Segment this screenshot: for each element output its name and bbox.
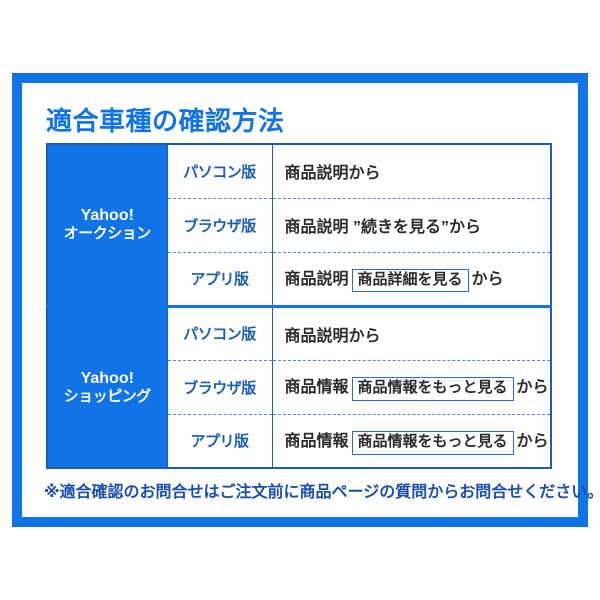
brand-label-line1: Yahoo! xyxy=(48,206,167,225)
platform-label-pc: パソコン版 xyxy=(167,306,272,360)
table-body: Yahoo! オークション パソコン版 商品説明から ブラウザ版 商品説明 xyxy=(47,144,551,468)
brand-cell-shopping: Yahoo! ショッピング xyxy=(47,306,167,468)
table-row: Yahoo! オークション パソコン版 商品説明から xyxy=(47,144,551,198)
platform-label-pc: パソコン版 xyxy=(167,144,272,198)
desc-prefix: 商品説明 ”続きを見る”から xyxy=(285,219,481,236)
table-row: Yahoo! ショッピング パソコン版 商品説明から xyxy=(47,306,551,360)
screenshot-canvas: 適合車種の確認方法 Yahoo! オークション パソコン版 商品説明から xyxy=(0,0,600,600)
brand-label-line2: ショッピング xyxy=(48,388,167,406)
ui-button-reference: 商品詳細を見る xyxy=(352,269,469,293)
desc-prefix: 商品説明 xyxy=(285,271,349,288)
description-cell: 商品説明から xyxy=(272,306,551,360)
brand-label-line1: Yahoo! xyxy=(48,369,167,388)
compatibility-table: Yahoo! オークション パソコン版 商品説明から ブラウザ版 商品説明 xyxy=(46,143,552,469)
blue-frame-border: 適合車種の確認方法 Yahoo! オークション パソコン版 商品説明から xyxy=(12,73,588,527)
footer-note: ※適合確認のお問合せはご注文前に商品ページの質問からお問合せください。 xyxy=(44,478,600,502)
platform-label-browser: ブラウザ版 xyxy=(167,360,272,414)
description-cell: 商品情報商品情報をもっと見るから xyxy=(272,360,551,414)
ui-button-reference: 商品情報をもっと見る xyxy=(352,377,514,401)
desc-prefix: 商品説明から xyxy=(285,328,381,345)
description-cell: 商品説明商品詳細を見るから xyxy=(272,252,551,306)
ui-button-reference: 商品情報をもっと見る xyxy=(352,431,514,455)
platform-label-browser: ブラウザ版 xyxy=(167,198,272,252)
platform-label-app: アプリ版 xyxy=(167,252,272,306)
desc-suffix: から xyxy=(472,271,504,288)
description-cell: 商品説明 ”続きを見る”から xyxy=(272,198,551,252)
desc-suffix: から xyxy=(517,433,549,450)
description-cell: 商品情報商品情報をもっと見るから xyxy=(272,414,551,468)
desc-prefix: 商品説明から xyxy=(285,165,381,182)
description-cell: 商品説明から xyxy=(272,144,551,198)
desc-prefix: 商品情報 xyxy=(285,379,349,396)
platform-label-app: アプリ版 xyxy=(167,414,272,468)
page-title: 適合車種の確認方法 xyxy=(46,101,285,138)
compatibility-table-wrapper: Yahoo! オークション パソコン版 商品説明から ブラウザ版 商品説明 xyxy=(46,143,552,469)
desc-prefix: 商品情報 xyxy=(285,433,349,450)
frame-inner-panel: 適合車種の確認方法 Yahoo! オークション パソコン版 商品説明から xyxy=(22,83,578,517)
brand-cell-auction: Yahoo! オークション xyxy=(47,144,167,306)
desc-suffix: から xyxy=(517,379,549,396)
brand-label-line2: オークション xyxy=(48,225,167,243)
